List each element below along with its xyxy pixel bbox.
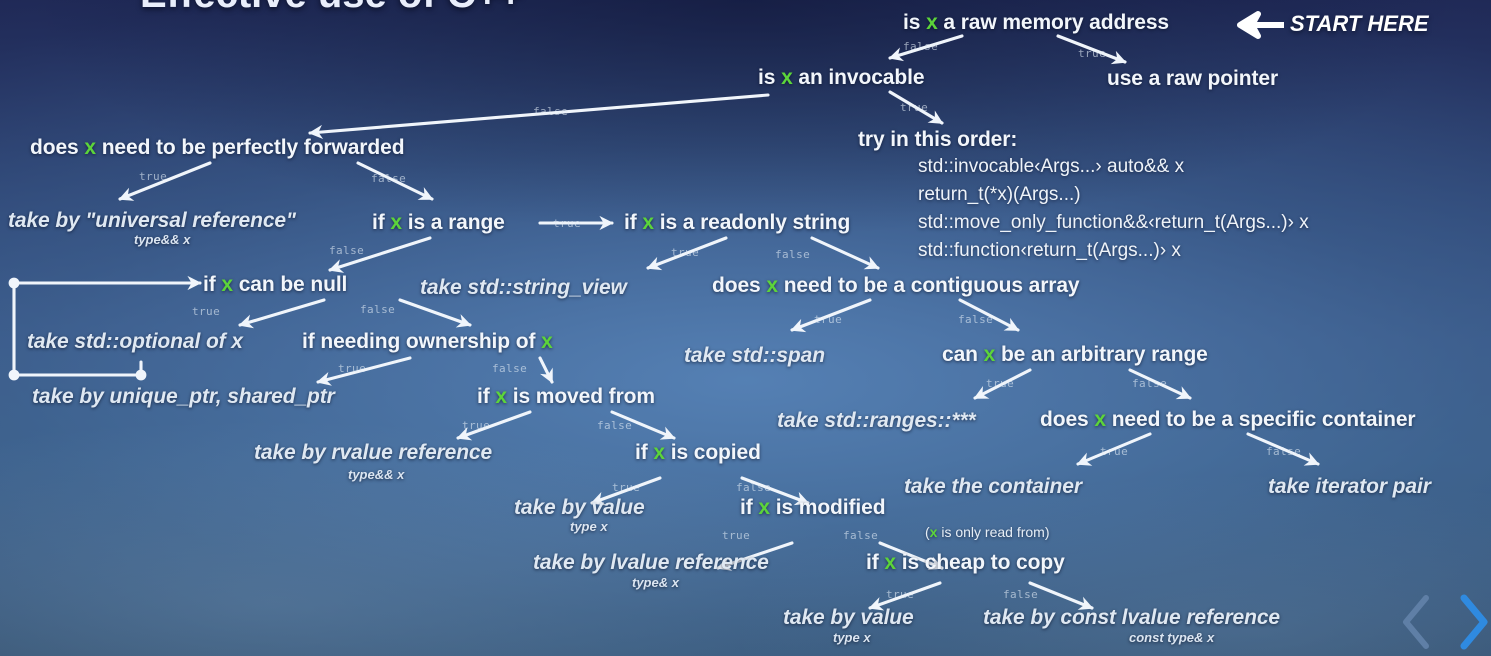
accent-variable-x: x	[642, 211, 654, 234]
edge-label-true: true	[612, 481, 640, 494]
node-const-lvalue-reference-subtitle: const type& x	[1129, 630, 1214, 645]
edge-label-true: true	[192, 305, 220, 318]
edge-label-true: true	[139, 170, 167, 183]
code-line-function-pointer: return_t(*x)(Args...)	[918, 184, 1081, 206]
node-universal-reference[interactable]: take by "universal reference"	[8, 209, 296, 233]
node-try-in-this-order[interactable]: try in this order:	[858, 128, 1017, 152]
edge-label-false: false	[360, 303, 395, 316]
code-line-move-only-function: std::move_only_function&&‹return_t(Args.…	[918, 212, 1309, 234]
edge-label-false: false	[775, 248, 810, 261]
accent-variable-x: x	[930, 524, 938, 540]
accent-variable-x: x	[926, 11, 938, 34]
edge-label-true: true	[900, 101, 928, 114]
accent-variable-x: x	[541, 330, 553, 353]
node-std-optional[interactable]: take std::optional of x	[27, 330, 243, 354]
edge-label-true: true	[986, 377, 1014, 390]
code-line-std-function: std::function‹return_t(Args...)› x	[918, 240, 1181, 262]
node-contiguous-array[interactable]: does x need to be a contiguous array	[712, 274, 1080, 298]
edge-label-false: false	[371, 172, 406, 185]
code-line-invocable-concept: std::invocable‹Args...› auto&& x	[918, 156, 1184, 178]
edge-label-false: false	[329, 244, 364, 257]
accent-variable-x: x	[653, 441, 665, 464]
start-here-label: START HERE	[1290, 11, 1429, 37]
node-rvalue-reference-subtitle: type&& x	[348, 467, 404, 482]
node-take-by-value-copy[interactable]: take by value	[514, 496, 645, 520]
node-lvalue-reference-subtitle: type& x	[632, 575, 679, 590]
bracket-endpoint-dots	[9, 278, 147, 381]
edge-label-true: true	[886, 588, 914, 601]
accent-variable-x: x	[84, 136, 96, 159]
accent-variable-x: x	[758, 496, 770, 519]
node-needing-ownership[interactable]: if needing ownership of x	[302, 330, 553, 354]
slide-canvas: Effective use of C++	[0, 0, 1491, 656]
node-iterator-pair[interactable]: take iterator pair	[1268, 475, 1431, 499]
edge-label-true: true	[338, 362, 366, 375]
node-is-invocable[interactable]: is x an invocable	[758, 66, 924, 90]
node-can-be-null[interactable]: if x can be null	[203, 273, 347, 297]
node-readonly-string[interactable]: if x is a readonly string	[624, 211, 850, 235]
accent-variable-x: x	[884, 551, 896, 574]
node-specific-container[interactable]: does x need to be a specific container	[1040, 408, 1416, 432]
edge-label-true: true	[1078, 47, 1106, 60]
node-is-moved-from[interactable]: if x is moved from	[477, 385, 655, 409]
edge-label-false: false	[597, 419, 632, 432]
accent-variable-x: x	[221, 273, 233, 296]
accent-variable-x: x	[1094, 408, 1106, 431]
node-lvalue-reference[interactable]: take by lvalue reference	[533, 551, 769, 575]
edge-label-false: false	[533, 105, 568, 118]
node-const-lvalue-reference[interactable]: take by const lvalue reference	[983, 606, 1280, 630]
accent-variable-x: x	[781, 66, 793, 89]
edge-label-false: false	[1266, 445, 1301, 458]
node-raw-memory-address[interactable]: is x a raw memory address	[903, 11, 1169, 35]
chevron-right-icon[interactable]	[1456, 592, 1491, 652]
edge-label-false: false	[1003, 588, 1038, 601]
node-is-copied[interactable]: if x is copied	[635, 441, 761, 465]
node-arbitrary-range[interactable]: can x be an arbitrary range	[942, 343, 1208, 367]
node-take-the-container[interactable]: take the container	[904, 475, 1082, 499]
node-std-ranges[interactable]: take std::ranges::***	[777, 409, 976, 433]
node-use-raw-pointer[interactable]: use a raw pointer	[1107, 67, 1278, 91]
node-take-by-value-cheap[interactable]: take by value	[783, 606, 914, 630]
edge-label-true: true	[1100, 445, 1128, 458]
node-unique-shared-ptr[interactable]: take by unique_ptr, shared_ptr	[32, 385, 335, 409]
node-is-a-range[interactable]: if x is a range	[372, 211, 505, 235]
node-universal-reference-subtitle: type&& x	[134, 232, 190, 247]
accent-variable-x: x	[766, 274, 778, 297]
edge-label-false: false	[1132, 377, 1167, 390]
edge-label-true: true	[814, 313, 842, 326]
node-cheap-to-copy[interactable]: if x is cheap to copy	[866, 551, 1065, 575]
node-take-by-value-copy-subtitle: type x	[570, 519, 608, 534]
node-perfectly-forwarded[interactable]: does x need to be perfectly forwarded	[30, 136, 404, 160]
node-string-view[interactable]: take std::string_view	[420, 276, 627, 300]
edge-label-true: true	[722, 529, 750, 542]
edge-label-false: false	[736, 481, 771, 494]
accent-variable-x: x	[984, 343, 996, 366]
edge-label-true: true	[462, 419, 490, 432]
start-here-arrow-icon	[1218, 10, 1286, 40]
accent-variable-x: x	[390, 211, 402, 234]
edge-label-false: false	[492, 362, 527, 375]
edge-label-true: true	[553, 217, 581, 230]
node-std-span[interactable]: take std::span	[684, 344, 825, 368]
accent-variable-x: x	[495, 385, 507, 408]
chevron-left-icon[interactable]	[1398, 592, 1436, 652]
edge-label-false: false	[903, 40, 938, 53]
edge-label-true: true	[671, 246, 699, 259]
edge-label-false: false	[958, 313, 993, 326]
node-rvalue-reference[interactable]: take by rvalue reference	[254, 441, 492, 465]
node-take-by-value-cheap-subtitle: type x	[833, 630, 871, 645]
node-is-modified[interactable]: if x is modified	[740, 496, 885, 520]
edge-label-false: false	[843, 529, 878, 542]
only-read-from-note: (x is only read from)	[925, 524, 1050, 540]
